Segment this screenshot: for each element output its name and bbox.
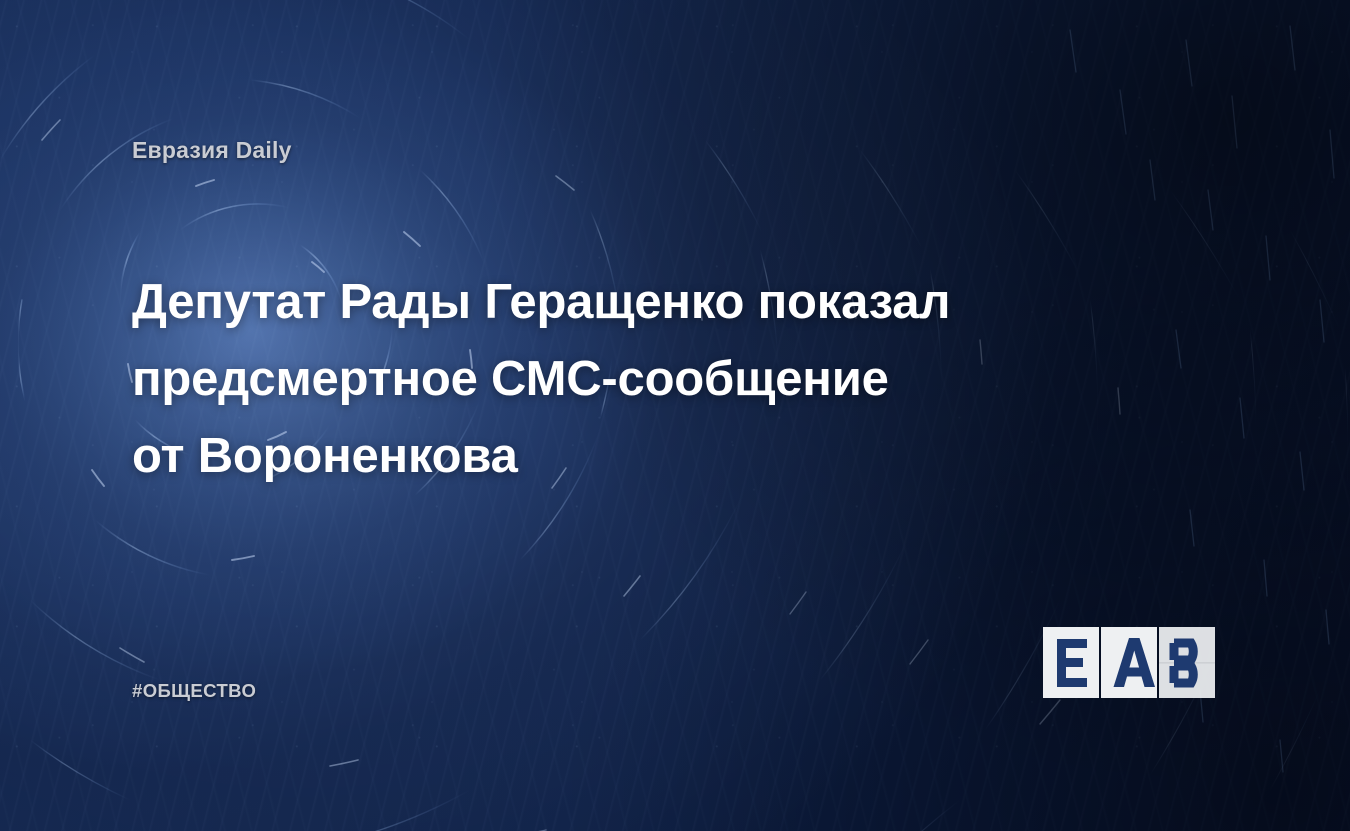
page-title: Депутат Рады Геращенко показал предсмерт… [132, 264, 1112, 495]
card-content: Евразия Daily Депутат Рады Геращенко пок… [0, 0, 1350, 831]
category-tag[interactable]: #ОБЩЕСТВО [132, 680, 256, 702]
logo-letter-e [1057, 639, 1087, 687]
brand-name: Евразия Daily [132, 137, 292, 164]
headline-line-2: предсмертное СМС-сообщение [132, 341, 1112, 418]
news-card: Евразия Daily Депутат Рады Геращенко пок… [0, 0, 1350, 831]
ead-logo[interactable] [1043, 627, 1223, 699]
headline-line-3: от Вороненкова [132, 418, 1112, 495]
headline-line-1: Депутат Рады Геращенко показал [132, 264, 1112, 341]
